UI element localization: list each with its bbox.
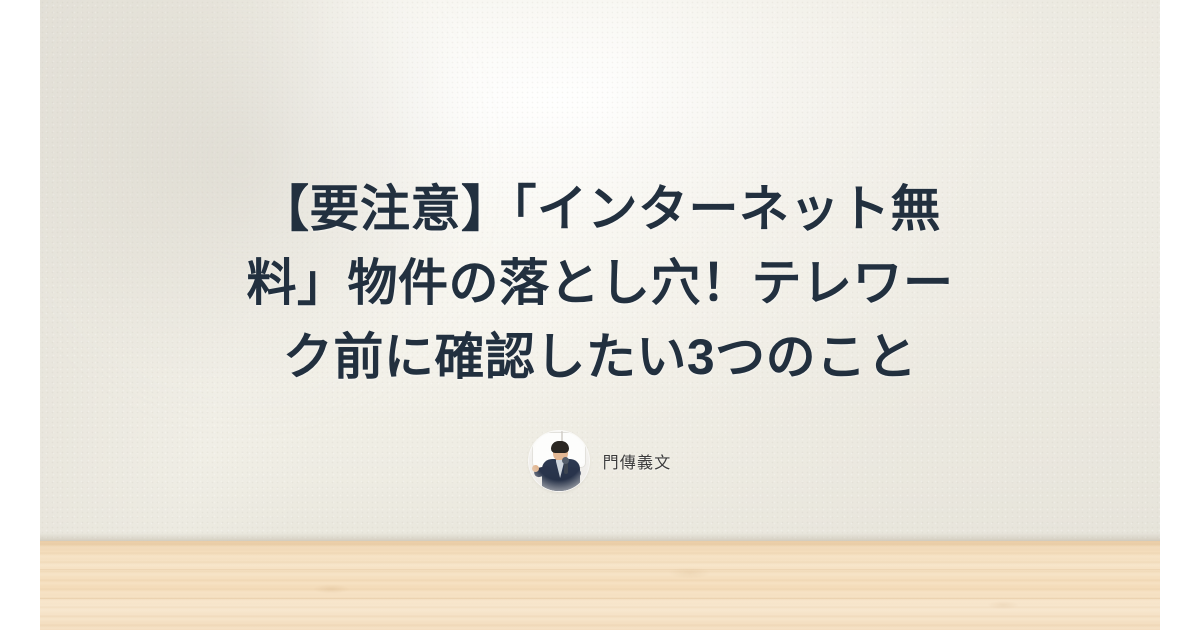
card-content: 【要注意】「インターネット無 料」物件の落とし穴！テレワー ク前に確認したい3つ… (0, 0, 1200, 630)
title-line-1: 【要注意】「インターネット無 (235, 172, 965, 246)
avatar-vignette (529, 431, 589, 491)
author-name: 門傳義文 (603, 449, 672, 473)
page-title: 【要注意】「インターネット無 料」物件の落とし穴！テレワー ク前に確認したい3つ… (235, 172, 965, 394)
avatar (529, 431, 589, 491)
author-byline: 門傳義文 (529, 431, 672, 491)
title-line-3: ク前に確認したい3つのこと (235, 320, 965, 394)
og-card: 【要注意】「インターネット無 料」物件の落とし穴！テレワー ク前に確認したい3つ… (0, 0, 1200, 630)
title-line-2: 料」物件の落とし穴！テレワー (235, 246, 965, 320)
